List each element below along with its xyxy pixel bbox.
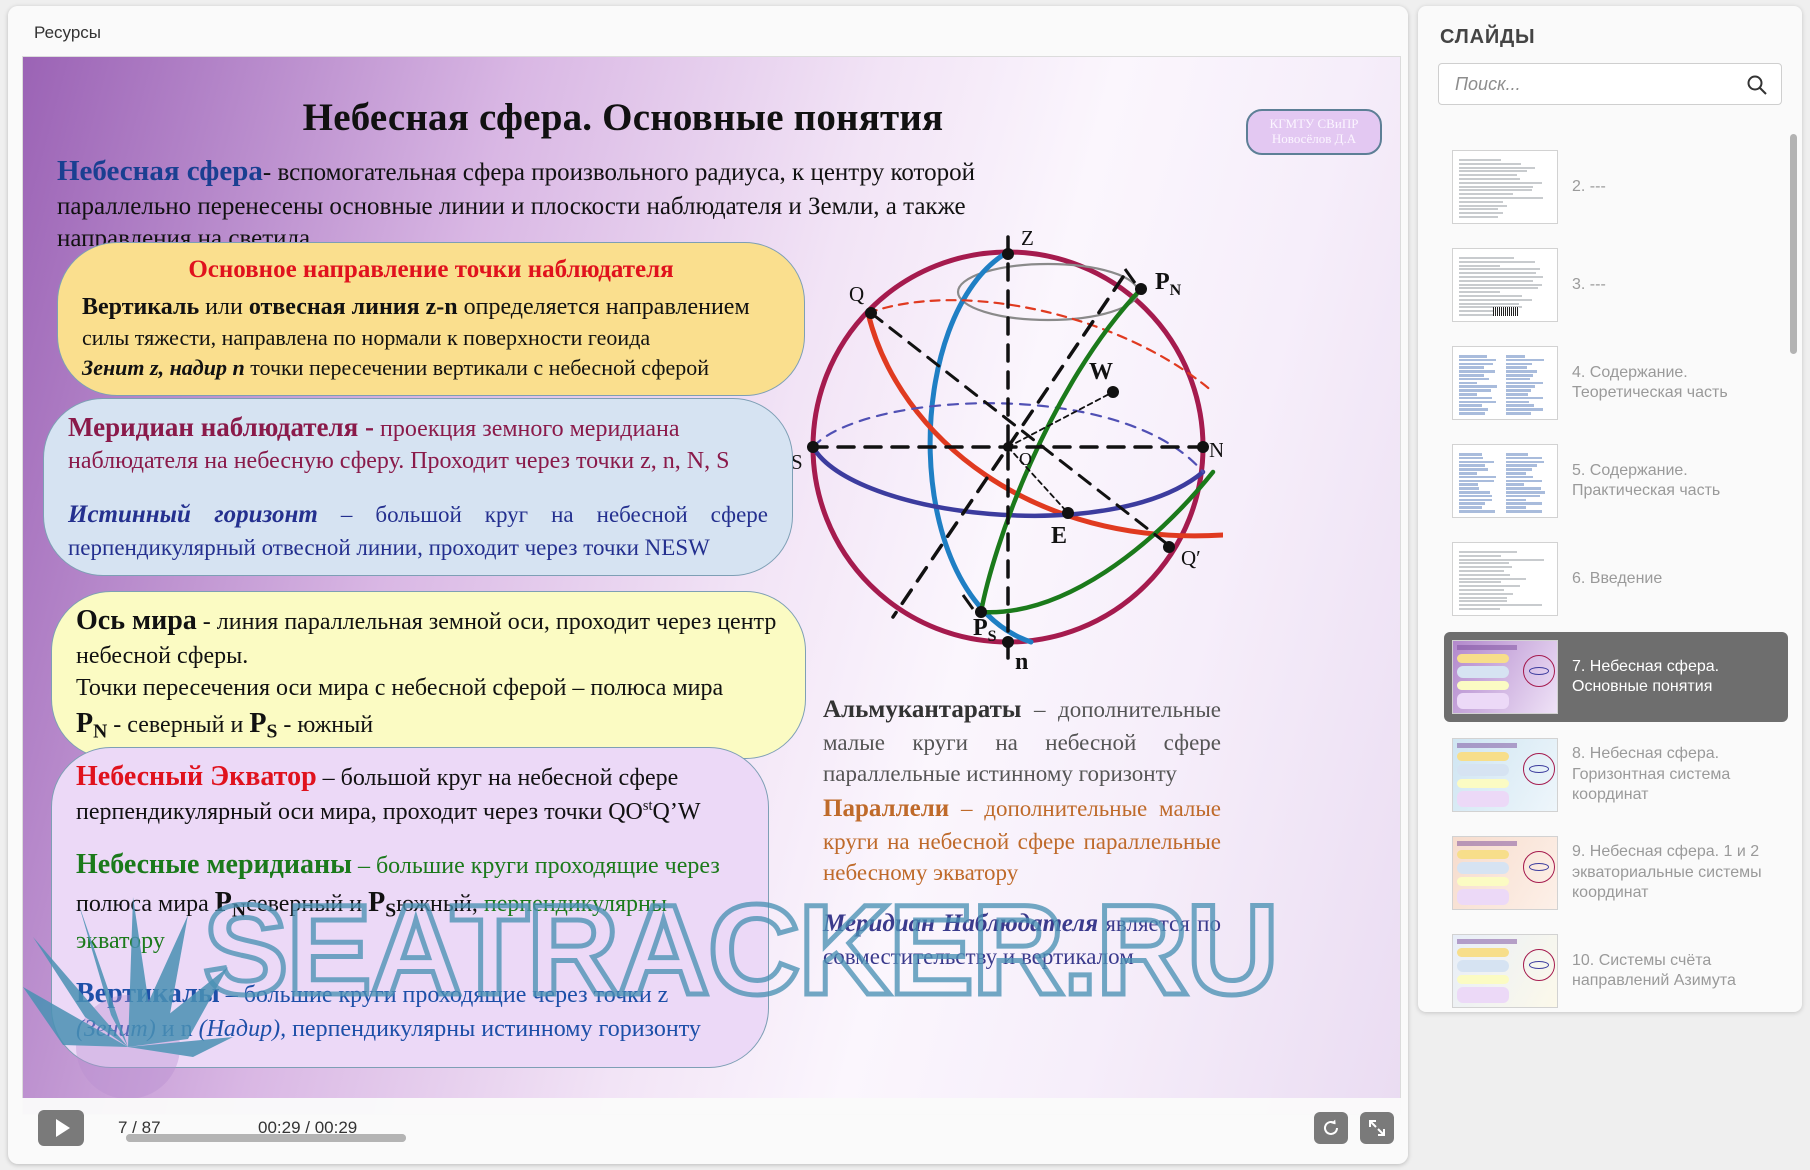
slide-thumbnail[interactable] bbox=[1452, 542, 1558, 616]
bubble3-line1: Ось мира - линия параллельная земной оси… bbox=[76, 602, 781, 672]
fullscreen-button[interactable] bbox=[1360, 1112, 1394, 1144]
celestial-sphere-svg: Z PN Q W S O N E Q′ PS n bbox=[793, 217, 1223, 687]
slide-thumbnail[interactable] bbox=[1452, 934, 1558, 1008]
label-q-prime: Q′ bbox=[1181, 546, 1201, 570]
slides-panel-title: СЛАЙДЫ bbox=[1418, 6, 1802, 63]
search-box[interactable] bbox=[1438, 63, 1782, 105]
slide-thumbnail[interactable] bbox=[1452, 248, 1558, 322]
slide-list-item[interactable]: 6. Введение bbox=[1444, 534, 1788, 624]
bubble2-para2: Истинный горизонт – большой круг на небе… bbox=[68, 498, 768, 563]
play-button[interactable] bbox=[38, 1110, 84, 1146]
bubble2-term2: Истинный горизонт bbox=[68, 501, 318, 528]
bubble1-term3: Зенит z, надир n bbox=[82, 355, 245, 380]
slide-list-item-label: 4. Содержание. Теоретическая часть bbox=[1572, 363, 1778, 404]
slide-list-item-label: 10. Системы счёта направлений Азимута bbox=[1572, 951, 1778, 992]
replay-button[interactable] bbox=[1314, 1112, 1348, 1144]
slide-thumbnail[interactable] bbox=[1452, 738, 1558, 812]
fullscreen-icon bbox=[1367, 1118, 1387, 1138]
point-z bbox=[1002, 248, 1014, 260]
slide-list-item-label: 3. --- bbox=[1572, 275, 1606, 295]
bubble4-equator: Небесный Экватор – большой круг на небес… bbox=[76, 758, 744, 828]
progress-fill bbox=[126, 1134, 406, 1142]
slide-title: Небесная сфера. Основные понятия bbox=[173, 95, 1073, 140]
label-n-nadir: n bbox=[1015, 649, 1028, 675]
slide-thumbnail[interactable] bbox=[1452, 640, 1558, 714]
bubble4-pn-letter: P bbox=[215, 887, 232, 918]
label-w: W bbox=[1089, 359, 1113, 385]
slide-thumbnail[interactable] bbox=[1452, 150, 1558, 224]
point-w bbox=[1107, 386, 1119, 398]
bubble1-term1: Вертикаль bbox=[82, 294, 199, 320]
bubble2-term1: Меридиан наблюдателя - bbox=[68, 412, 374, 442]
slide-list-item[interactable]: 7. Небесная сфера. Основные понятия bbox=[1444, 632, 1788, 722]
bubble3-line3: PN - северный и PS - южный bbox=[76, 705, 781, 746]
bubble4-meridians-term: Небесные меридианы bbox=[76, 849, 352, 880]
bubble4-verticals-i1: (Зенит) bbox=[76, 1016, 156, 1042]
slide-thumbnail[interactable] bbox=[1452, 836, 1558, 910]
slide-list-item-label: 6. Введение bbox=[1572, 569, 1662, 589]
viewer-topbar: Ресурсы bbox=[8, 6, 1408, 60]
bubble3-pn: PN bbox=[76, 708, 107, 739]
bubble3-pn-sub: N bbox=[93, 721, 107, 742]
bubble4-equator-tail: Q’W bbox=[653, 799, 701, 825]
point-n-nadir bbox=[1002, 636, 1014, 648]
replay-icon bbox=[1321, 1118, 1341, 1138]
author-badge-line2: Новосёлов Д.А bbox=[1252, 132, 1376, 147]
search-icon[interactable] bbox=[1745, 73, 1769, 97]
bubble4-meridians-black1: полюса мира bbox=[76, 891, 209, 917]
observer-meridian-term: Меридиан Наблюдателя bbox=[823, 910, 1098, 937]
label-q: Q bbox=[849, 282, 864, 306]
slide-list-item-label: 7. Небесная сфера. Основные понятия bbox=[1572, 657, 1778, 698]
bubble3-pn-letter: P bbox=[76, 708, 93, 739]
progress-bar[interactable] bbox=[126, 1134, 406, 1142]
slide-list-item[interactable]: 3. --- bbox=[1444, 240, 1788, 330]
point-o bbox=[1003, 442, 1013, 452]
bubble-equator-meridians: Небесный Экватор – большой круг на небес… bbox=[51, 747, 769, 1068]
slide-canvas: Небесная сфера. Основные понятия КГМТУ С… bbox=[23, 57, 1401, 1115]
bubble-observer-meridian: Меридиан наблюдателя - проекция земного … bbox=[43, 398, 793, 576]
search-row bbox=[1418, 63, 1802, 105]
bubble4-meridians-black2: северный и bbox=[246, 891, 362, 917]
bubble4-equator-term: Небесный Экватор bbox=[76, 761, 317, 792]
point-pn bbox=[1135, 283, 1147, 295]
point-s bbox=[807, 441, 819, 453]
slide-stage[interactable]: Небесная сфера. Основные понятия КГМТУ С… bbox=[22, 56, 1401, 1115]
text-almucantarats: Альмукантараты – дополнительные малые кр… bbox=[823, 693, 1221, 789]
bubble2-para1: Меридиан наблюдателя - проекция земного … bbox=[68, 409, 768, 478]
slide-list-item[interactable]: 4. Содержание. Теоретическая часть bbox=[1444, 338, 1788, 428]
bubble4-equator-sup: st bbox=[643, 798, 653, 814]
slide-list-item[interactable]: 2. --- bbox=[1444, 142, 1788, 232]
slide-list-item[interactable]: 9. Небесная сфера. 1 и 2 экваториальные … bbox=[1444, 828, 1788, 918]
text-parallels: Параллели – дополнительные малые круги н… bbox=[823, 792, 1221, 888]
text-observer-meridian-note: Меридиан Наблюдателя является по совмест… bbox=[823, 907, 1221, 972]
slide-thumbnail-list[interactable]: 2. ---3. ---4. Содержание. Теоретическая… bbox=[1418, 132, 1802, 1012]
bubble4-verticals-i2: (Надир), bbox=[199, 1016, 286, 1042]
slide-list-item[interactable]: 8. Небесная сфера. Горизонтная система к… bbox=[1444, 730, 1788, 820]
app-root: Ресурсы Небесная сфера. Основные понятия… bbox=[0, 0, 1810, 1170]
search-input[interactable] bbox=[1453, 64, 1767, 104]
celestial-equator-back bbox=[868, 300, 1213, 392]
slide-thumbnail[interactable] bbox=[1452, 346, 1558, 420]
bubble3-rest: - южный bbox=[283, 712, 373, 738]
intro-dash: - bbox=[263, 159, 271, 186]
slide-list-item-label: 2. --- bbox=[1572, 177, 1606, 197]
bubble4-meridians-text1: – большие круги проходящие через bbox=[358, 853, 720, 879]
point-e bbox=[1062, 507, 1074, 519]
point-q-prime bbox=[1163, 541, 1175, 553]
bubble4-verticals-t3: перпендикулярны истинному горизонту bbox=[292, 1016, 701, 1042]
intro-term: Небесная сфера bbox=[57, 155, 263, 187]
bubble1-mid: или bbox=[205, 294, 243, 320]
bubble4-verticals-term: Вертикалы bbox=[76, 978, 220, 1009]
bubble3-mid: - северный и bbox=[113, 712, 243, 738]
slide-list-item[interactable]: 10. Системы счёта направлений Азимута bbox=[1444, 926, 1788, 1012]
bubble4-verticals-t1: – большие круги проходящие через точки z bbox=[226, 982, 669, 1008]
bubble4-ps-letter: P bbox=[368, 887, 385, 918]
bubble4-meridians: Небесные меридианы – большие круги прохо… bbox=[76, 846, 744, 957]
bubble-basic-direction: Основное направление точки наблюдателя В… bbox=[57, 242, 805, 396]
play-icon bbox=[56, 1119, 70, 1137]
author-badge: КГМТУ СВиПР Новосёлов Д.А bbox=[1246, 109, 1382, 155]
slide-list-item-label: 8. Небесная сфера. Горизонтная система к… bbox=[1572, 744, 1778, 805]
bubble1-header: Основное направление точки наблюдателя bbox=[82, 253, 780, 287]
slide-list-item-label: 9. Небесная сфера. 1 и 2 экваториальные … bbox=[1572, 842, 1778, 903]
slides-panel: СЛАЙДЫ 2. ---3. ---4. Содержание. Теорет… bbox=[1418, 6, 1802, 1012]
bubble3-ps-sub: S bbox=[266, 721, 277, 742]
resources-label: Ресурсы bbox=[34, 23, 101, 43]
bubble4-pn-sub: N bbox=[232, 900, 246, 921]
slide-thumbnail[interactable] bbox=[1452, 444, 1558, 518]
presentation-viewer: Ресурсы Небесная сфера. Основные понятия… bbox=[8, 6, 1408, 1164]
bubble3-line2: Точки пересечения оси мира с небесной сф… bbox=[76, 672, 781, 704]
point-q bbox=[865, 307, 877, 319]
point-n bbox=[1197, 441, 1209, 453]
label-n: N bbox=[1209, 438, 1223, 462]
bubble1-line1: Вертикаль или отвесная линия z-n определ… bbox=[82, 291, 780, 323]
bubble3-term: Ось мира bbox=[76, 605, 197, 636]
bubble3-ps-letter: P bbox=[249, 708, 266, 739]
almucantarats-term: Альмукантараты bbox=[823, 696, 1021, 723]
player-right-controls bbox=[1302, 1112, 1394, 1144]
bubble1-term2: отвесная линия z-n bbox=[249, 294, 458, 320]
bubble3-ps: PS bbox=[249, 708, 277, 739]
bubble1-line3-rest: точки пересечении вертикали с небесной с… bbox=[250, 355, 709, 380]
bubble4-meridians-black3: южный, bbox=[396, 891, 478, 917]
label-e: E bbox=[1051, 523, 1067, 549]
celestial-sphere-diagram: Z PN Q W S O N E Q′ PS n bbox=[793, 217, 1223, 687]
bubble1-line2: силы тяжести, направлена по нормали к по… bbox=[82, 323, 780, 353]
label-pn: PN bbox=[1155, 269, 1182, 299]
label-z: Z bbox=[1021, 226, 1034, 250]
author-badge-line1: КГМТУ СВиПР bbox=[1252, 117, 1376, 132]
bubble4-verticals: Вертикалы – большие круги проходящие чер… bbox=[76, 975, 744, 1045]
bubble4-meridians-pn: PN bbox=[215, 887, 246, 918]
player-controls: 7 / 87 00:29 / 00:29 bbox=[16, 1098, 1408, 1158]
bubble1-rest: определяется направлением bbox=[464, 294, 750, 320]
bubble4-ps-sub: S bbox=[385, 900, 396, 921]
label-o: O bbox=[1019, 449, 1032, 469]
bubble1-line3: Зенит z, надир n точки пересечении верти… bbox=[82, 353, 780, 383]
parallels-term: Параллели bbox=[823, 795, 949, 822]
panel-scrollbar[interactable] bbox=[1790, 134, 1797, 354]
bubble-world-axis: Ось мира - линия параллельная земной оси… bbox=[51, 591, 806, 759]
bubble4-verticals-t2: и n bbox=[162, 1016, 193, 1042]
slide-list-item[interactable]: 5. Содержание. Практическая часть bbox=[1444, 436, 1788, 526]
slide-list-item-label: 5. Содержание. Практическая часть bbox=[1572, 461, 1778, 502]
label-s: S bbox=[793, 450, 803, 474]
qq-axis-line bbox=[871, 313, 1171, 547]
bubble4-meridians-ps: PS bbox=[368, 887, 396, 918]
